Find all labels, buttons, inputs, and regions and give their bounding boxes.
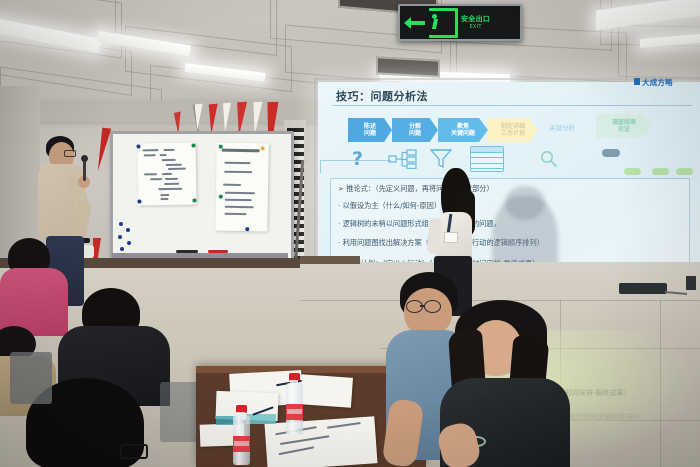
process-step-3: 聚焦关键问题 (438, 118, 488, 142)
emergency-exit-sign: 安全出口 EXIT (398, 4, 522, 41)
slide-bullet-3: · 逻辑树的末梢以问题形式组成，取问题图的问题， (338, 219, 501, 228)
meeting-room-photo: 安全出口 EXIT (0, 0, 700, 467)
seated-man-glasses-icon (424, 300, 441, 313)
flipchart-sheet-left (137, 142, 196, 205)
wall-socket (686, 276, 696, 290)
running-person-icon (429, 8, 458, 38)
process-step-4-label: 制定详细工作计划 (501, 123, 525, 138)
status-pill-green (624, 168, 641, 175)
title-divider (332, 105, 692, 106)
handwritten-worksheet (264, 416, 377, 467)
process-step-3-label: 聚焦关键问题 (451, 123, 475, 138)
status-pill-green (676, 168, 693, 175)
process-step-1: 陈述问题 (348, 118, 392, 142)
exit-sign-label: 安全出口 EXIT (461, 15, 490, 31)
slide-bullet-2: · 以假设为主（什么/如何-原因） (338, 201, 441, 210)
process-step-1-label: 陈述问题 (364, 123, 376, 138)
speaker-box (619, 283, 667, 294)
sticky-note (246, 414, 276, 424)
ceiling-vent (376, 56, 440, 77)
status-pill-green (652, 168, 669, 175)
standing-woman-badge (444, 232, 458, 243)
status-pill-dark (602, 149, 620, 157)
bottle-label (233, 436, 250, 452)
red-marker (208, 250, 228, 253)
foreground-left-glasses-icon (120, 444, 148, 459)
chair-back (160, 382, 200, 442)
tree-diagram-icon (388, 149, 418, 169)
presenter-glasses-icon (64, 150, 76, 157)
process-step-2-label: 分解问题 (409, 123, 421, 138)
funnel-icon (430, 148, 452, 169)
bottle-neck (290, 380, 298, 385)
bottle-neck (237, 412, 245, 417)
projected-text-spill: 与时间安排-最终成果） (558, 388, 631, 398)
process-step-5-label: 关键分析 (540, 124, 584, 132)
process-step-4: 制定详细工作计划 (488, 118, 538, 142)
flipchart-sheet-right (215, 143, 269, 232)
process-step-6-label: 调查结果论证 (612, 119, 636, 134)
black-marker (176, 250, 198, 253)
paper-document (299, 374, 353, 408)
slide-title: 技巧：问题分析法 (336, 88, 556, 104)
process-step-6: 调查结果论证 (596, 114, 652, 138)
exit-sign-secondary-text: EXIT (461, 23, 490, 31)
seated-man-glasses-icon (406, 300, 423, 313)
process-step-2: 分解问题 (392, 118, 438, 142)
microphone-head (81, 155, 88, 162)
exit-sign-primary-text: 安全出口 (461, 15, 490, 23)
magnifier-icon (540, 150, 558, 168)
callout-connector (320, 160, 391, 173)
chair-back (10, 352, 52, 404)
bottle-label (286, 404, 303, 420)
seated-man-glasses-bridge (420, 305, 425, 307)
microphone (83, 159, 86, 181)
company-logo-mark (634, 78, 640, 85)
wall-baseboard (300, 256, 360, 264)
company-logo-text: 大成方略 (642, 77, 673, 88)
exit-arrow-icon (404, 15, 426, 31)
table-icon (470, 146, 504, 172)
shadow-head (505, 186, 545, 220)
